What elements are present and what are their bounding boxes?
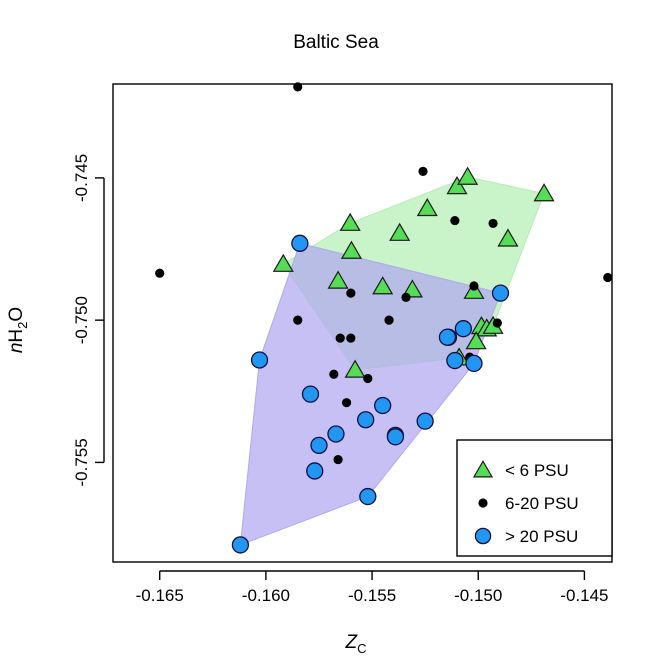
y-tick-label: -0.745 [72, 154, 91, 202]
data-point-dot [488, 219, 497, 228]
legend[interactable]: < 6 PSU6-20 PSU> 20 PSU [457, 440, 612, 556]
legend-label: 6-20 PSU [505, 494, 579, 513]
y-axis-label: nH2O [6, 307, 30, 353]
data-point-circle [292, 235, 308, 251]
scatter-plot-figure: Baltic Sea -0.165-0.160-0.155-0.150-0.14… [0, 0, 672, 671]
data-point-circle [387, 429, 403, 445]
data-point-circle [307, 463, 323, 479]
data-point-circle [360, 489, 376, 505]
data-point-circle [493, 285, 509, 301]
data-point-circle [328, 426, 344, 442]
data-point-dot [603, 273, 612, 282]
data-point-dot [293, 316, 302, 325]
data-point-dot [342, 398, 351, 407]
data-point-dot [469, 281, 478, 290]
data-point-circle [466, 355, 482, 371]
data-point-circle [375, 398, 391, 414]
data-point-circle [447, 353, 463, 369]
data-point-circle [455, 321, 471, 337]
data-point-circle [358, 412, 374, 428]
data-point-dot [336, 333, 345, 342]
x-tick-label: -0.160 [242, 586, 290, 605]
data-point-circle [311, 437, 327, 453]
data-point-dot [493, 318, 502, 327]
data-point-circle [417, 413, 433, 429]
y-axis-label-sub: 2 [15, 322, 30, 329]
data-point-dot [384, 316, 393, 325]
data-point-dot [401, 293, 410, 302]
x-tick-label: -0.150 [454, 586, 502, 605]
data-point-dot [346, 333, 355, 342]
chart-canvas: Baltic Sea -0.165-0.160-0.155-0.150-0.14… [0, 0, 672, 671]
data-point-circle [252, 352, 268, 368]
y-axis-label-italic: n [6, 343, 27, 354]
y-tick-label: -0.755 [72, 438, 91, 486]
y-axis-label-o: O [6, 307, 27, 322]
data-point-dot [155, 269, 164, 278]
data-point-dot [346, 289, 355, 298]
data-point-circle [475, 528, 490, 543]
y-tick-label: -0.750 [72, 296, 91, 344]
x-tick-label: -0.165 [136, 586, 184, 605]
data-point-dot [333, 455, 342, 464]
chart-title: Baltic Sea [293, 32, 379, 53]
x-axis-label-sub: C [357, 641, 366, 656]
data-point-circle [302, 386, 318, 402]
y-axis-label-h: H [6, 329, 27, 343]
data-point-circle [439, 329, 455, 345]
data-point-circle [232, 537, 248, 553]
x-tick-label: -0.145 [560, 586, 608, 605]
data-point-dot [450, 216, 459, 225]
legend-label: < 6 PSU [505, 461, 569, 480]
legend-label: > 20 PSU [505, 527, 578, 546]
x-tick-label: -0.155 [348, 586, 396, 605]
data-point-dot [478, 498, 487, 507]
data-point-dot [418, 167, 427, 176]
data-point-dot [363, 374, 372, 383]
data-point-dot [329, 370, 338, 379]
